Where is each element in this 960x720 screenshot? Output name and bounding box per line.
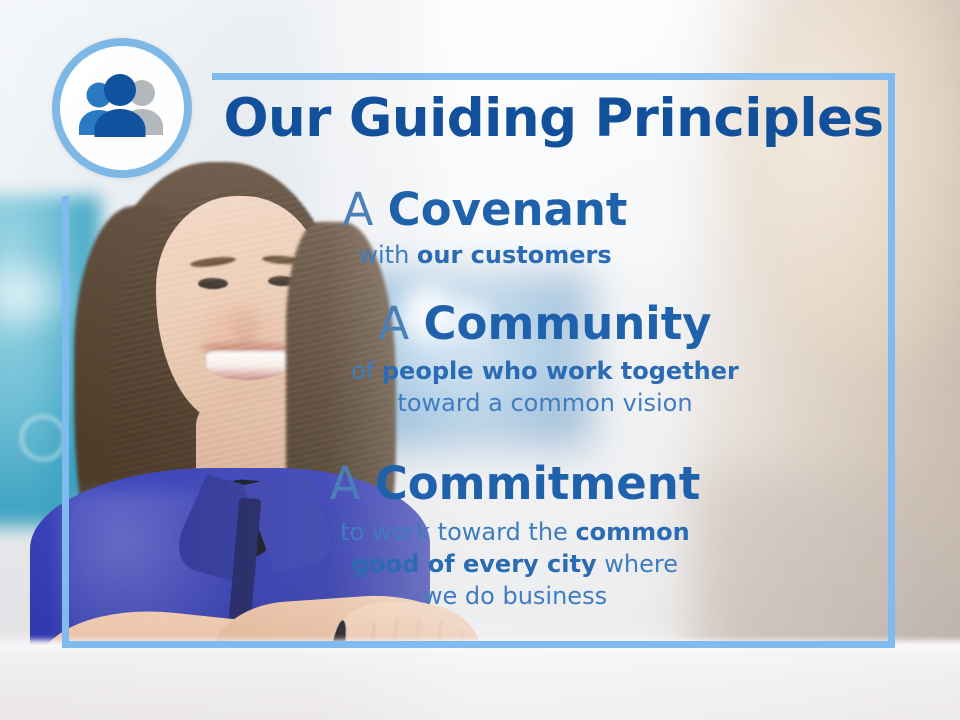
headline-article: A — [378, 297, 409, 350]
headline-article: A — [330, 457, 361, 510]
frame-bottom-bar — [62, 641, 895, 648]
guiding-principles-graphic: FLOW FLOW Our Guiding Pr — [0, 0, 960, 720]
principle-covenant: A Covenant with our customers — [105, 186, 865, 272]
principle-commitment: A Commitment to work toward the commongo… — [135, 460, 895, 612]
principle-headline: A Covenant — [105, 186, 865, 233]
page-title: Our Guiding Principles — [212, 88, 895, 149]
principle-subtext: with our customers — [105, 240, 865, 272]
principle-subtext: of people who work togethertoward a comm… — [165, 356, 925, 419]
subtext-line: with our customers — [105, 240, 865, 272]
subtext-line: of people who work together — [165, 356, 925, 388]
headline-keyword: Covenant — [388, 183, 628, 236]
frame-left-bar — [62, 196, 69, 648]
subtext-line: good of every city where — [135, 549, 895, 581]
icon-badge — [52, 38, 192, 178]
principle-subtext: to work toward the commongood of every c… — [135, 517, 895, 612]
subtext-line: to work toward the common — [135, 517, 895, 549]
principle-community: A Community of people who work togethert… — [165, 300, 925, 420]
headline-article: A — [343, 183, 374, 236]
desk-surface — [0, 640, 960, 720]
principle-headline: A Commitment — [135, 460, 895, 507]
frame-top-bar — [212, 73, 895, 80]
headline-keyword: Commitment — [375, 457, 701, 510]
subtext-line: we do business — [135, 581, 895, 613]
subtext-line: toward a common vision — [165, 388, 925, 420]
headline-keyword: Community — [424, 297, 712, 350]
principle-headline: A Community — [165, 300, 925, 347]
